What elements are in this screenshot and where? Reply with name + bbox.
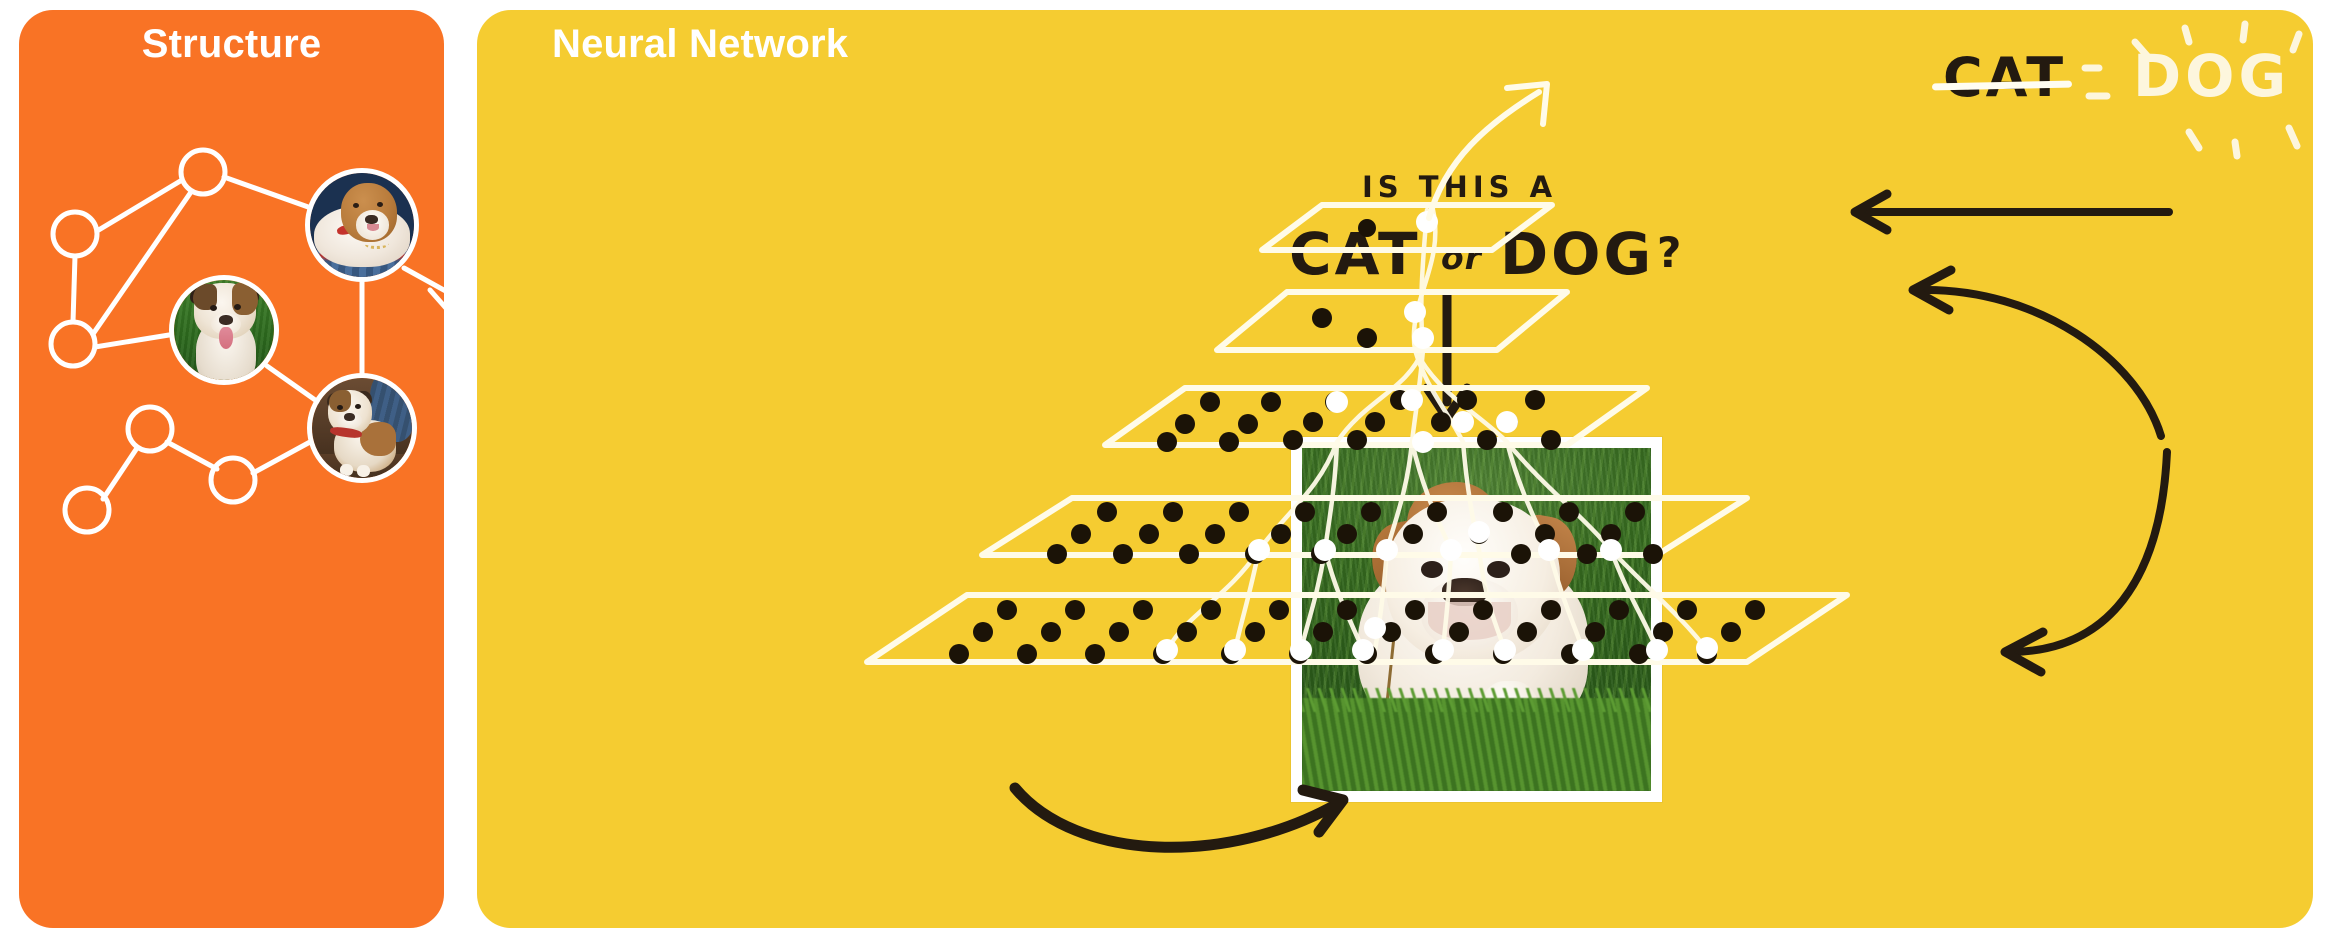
edge-n1-ptop	[224, 177, 311, 208]
photo-node-bulldog-on-grass[interactable]	[169, 275, 279, 385]
graph-node-2[interactable]	[53, 212, 97, 256]
verdict-rejected-cat: CAT	[1943, 46, 2066, 109]
neural-network-panel: Neural Network IS THIS A CAT or DOG ?	[477, 10, 2313, 928]
photo-node-bulldog-on-rug[interactable]	[305, 168, 419, 282]
infographic-canvas: Structure	[0, 0, 2330, 936]
graph-node-3[interactable]	[51, 322, 95, 366]
curved-arrow-to-input-icon	[1007, 770, 1367, 880]
graph-node-1[interactable]	[181, 150, 225, 194]
layer-plane-hidden-0	[982, 498, 1747, 564]
photo-node-image-sitting	[312, 378, 412, 478]
edge-n5-n4	[103, 448, 137, 499]
edge-n3-pmiddle	[95, 335, 169, 347]
photo-node-image-grass	[174, 280, 274, 380]
arrow-to-output-layer-icon	[1855, 194, 2169, 230]
graph-node-6[interactable]	[211, 458, 255, 502]
output-to-dog-arrow-icon	[1429, 84, 1547, 218]
photo-node-image-rug	[310, 173, 414, 277]
neuron-active	[1412, 327, 1434, 349]
layer-plane-hidden-1	[1105, 388, 1647, 453]
edge-pmiddle-pbottom	[267, 366, 318, 402]
edge-n4-n6	[167, 442, 217, 469]
neuron-inactive	[1312, 308, 1332, 328]
annotation-arrows	[1737, 190, 2177, 750]
arrow-to-activated-upper-icon	[1913, 270, 2161, 436]
layer-plane-hidden-2	[1217, 292, 1567, 350]
layer-plane-input	[867, 595, 1847, 664]
edge-n2-n3	[73, 256, 75, 322]
photo-node-bulldog-sitting[interactable]	[307, 373, 417, 483]
neuron-inactive	[1357, 328, 1377, 348]
neuron-inactive	[1358, 219, 1376, 237]
structure-panel: Structure	[19, 10, 444, 928]
graph-node-5[interactable]	[65, 488, 109, 532]
arrow-to-activated-lower-icon	[2005, 452, 2167, 672]
deep-network-bracket	[2247, 110, 2313, 910]
edge-n6-pbottom	[253, 442, 310, 473]
layer-plane-output	[1262, 205, 1552, 250]
graph-node-4[interactable]	[128, 407, 172, 451]
neuron-active	[1404, 301, 1426, 323]
